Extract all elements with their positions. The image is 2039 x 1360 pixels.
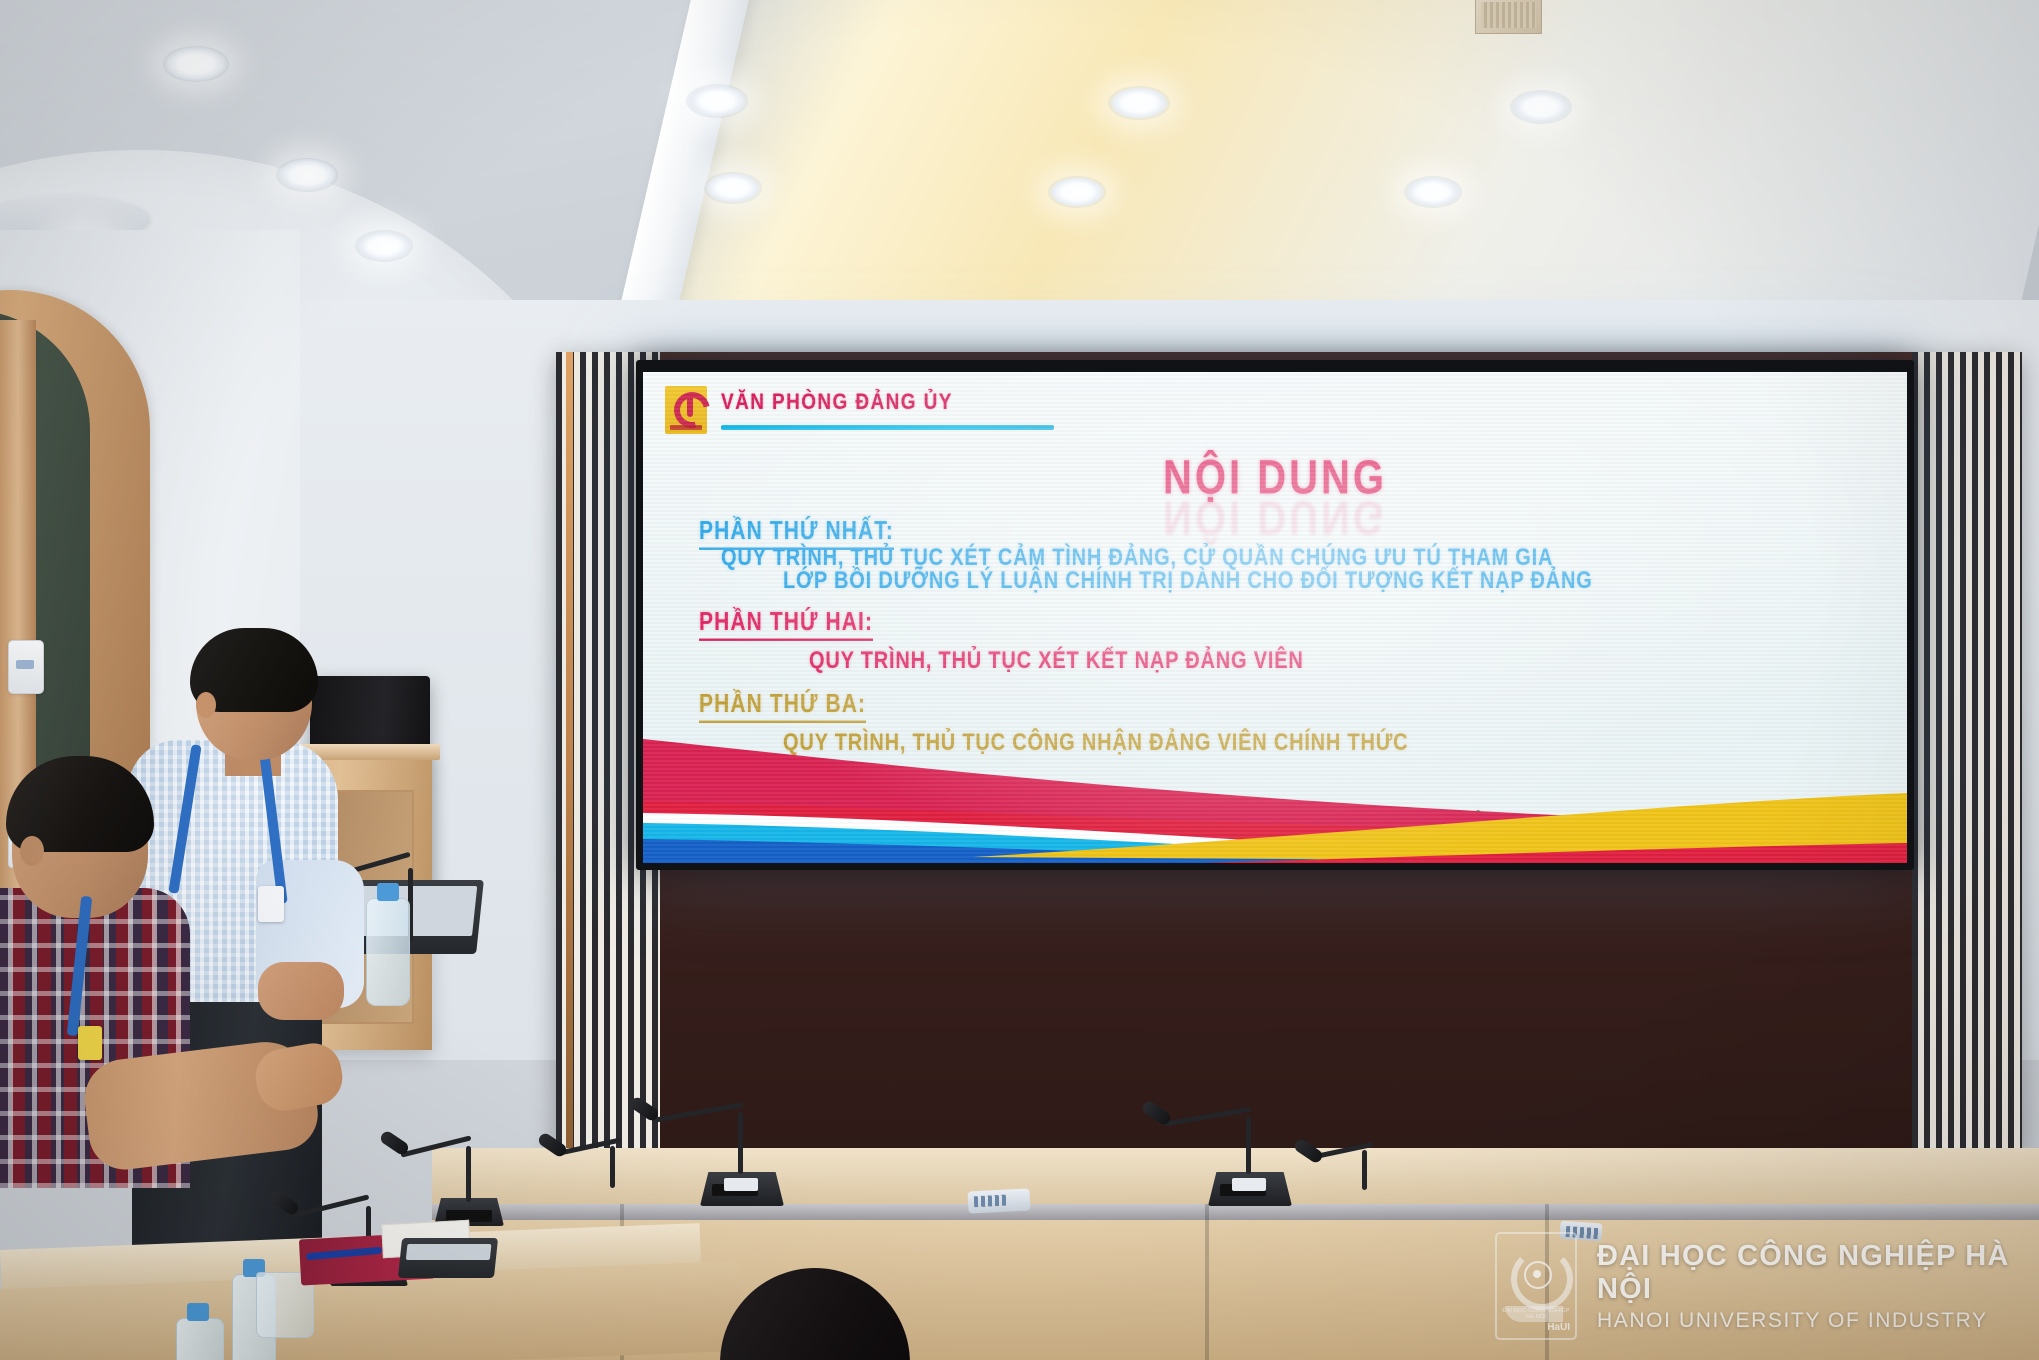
atom-icon: [1524, 1261, 1552, 1289]
wall-slats-right: [1912, 352, 2022, 1152]
downlight-icon: [1108, 86, 1170, 120]
slide-decorative-waves: [643, 731, 1907, 863]
watermark-logo-caption: ĐẠI HỌC CÔNG NGHIỆP HÀ NỘI: [1501, 1308, 1571, 1320]
wave-svg: [643, 731, 1907, 863]
watermark-title-vi: ĐẠI HỌC CÔNG NGHIỆP HÀ NỘI: [1597, 1240, 2039, 1306]
downlight-icon: [276, 158, 338, 192]
section-heading: PHẦN THỨ HAI:: [699, 608, 873, 641]
slide-header: VĂN PHÒNG ĐẢNG ỦY: [665, 386, 1054, 434]
screenshot-root: VĂN PHÒNG ĐẢNG ỦY NỘI DUNG NỘI DUNG PHẦN…: [0, 0, 2039, 1360]
watermark-logo-abbr: HaUI: [1497, 1322, 1570, 1333]
water-bottle[interactable]: [366, 898, 410, 1006]
downlight-icon: [686, 84, 748, 118]
conference-table-edge: [432, 1204, 2039, 1220]
downlight-icon: [704, 172, 762, 204]
downlight-icon: [1048, 176, 1106, 208]
haui-logo-icon: [665, 386, 707, 434]
remote-control[interactable]: [967, 1188, 1030, 1213]
downlight-icon: [355, 230, 413, 262]
section-body-line: QUY TRÌNH, THỦ TỤC XÉT KẾT NẠP ĐẢNG VIÊN: [643, 647, 1907, 675]
table-seam: [1205, 1204, 1209, 1360]
downlight-icon: [1404, 176, 1462, 208]
downlight-icon: [1510, 90, 1572, 124]
id-badge: [78, 1026, 102, 1060]
ceiling-access-panel: [1475, 0, 1542, 34]
wall-switch[interactable]: [8, 640, 44, 694]
water-bottle[interactable]: [176, 1318, 224, 1360]
section-heading: PHẦN THỨ BA:: [699, 690, 866, 723]
slide-section-1: PHẦN THỨ NHẤT: QUY TRÌNH, THỦ TỤC XÉT CẢ…: [643, 520, 1907, 593]
slide-header-rule: [721, 425, 1054, 430]
section-body-line: LỚP BỒI DƯỠNG LÝ LUẬN CHÍNH TRỊ DÀNH CHO…: [643, 567, 1907, 595]
watermark-title-en: HANOI UNIVERSITY OF INDUSTRY: [1597, 1309, 2039, 1333]
slide-org-label: VĂN PHÒNG ĐẢNG ỦY: [721, 390, 1054, 416]
watermark: ĐẠI HỌC CÔNG NGHIỆP HÀ NỘI HaUI ĐẠI HỌC …: [1495, 1232, 2039, 1340]
id-badge: [258, 886, 284, 922]
haui-watermark-logo-icon: ĐẠI HỌC CÔNG NGHIỆP HÀ NỘI HaUI: [1495, 1232, 1577, 1340]
wall-slat-gold-accent: [566, 352, 573, 1152]
slide-section-2: PHẦN THỨ HAI: QUY TRÌNH, THỦ TỤC XÉT KẾT…: [643, 611, 1907, 673]
presentation-slide: VĂN PHÒNG ĐẢNG ỦY NỘI DUNG NỘI DUNG PHẦN…: [643, 372, 1907, 863]
downlight-icon: [163, 46, 229, 82]
laptop-secondary[interactable]: [398, 1238, 498, 1278]
